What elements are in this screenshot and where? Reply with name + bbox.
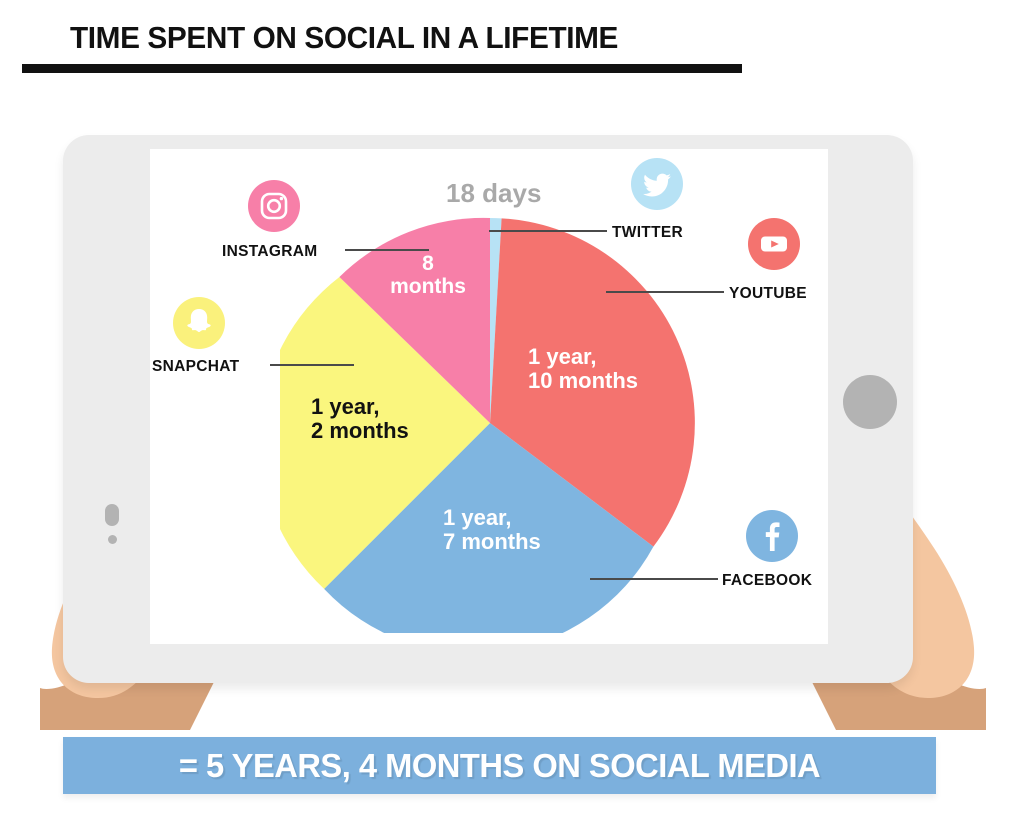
leader-line-twitter xyxy=(489,230,607,232)
brand-label-facebook: FACEBOOK xyxy=(722,572,812,590)
instagram-value-label: 8 months xyxy=(376,253,480,298)
snapchat-icon[interactable] xyxy=(173,297,225,349)
page-title: TIME SPENT ON SOCIAL IN A LIFETIME xyxy=(70,20,618,56)
footer-banner: = 5 YEARS, 4 MONTHS ON SOCIAL MEDIA xyxy=(63,737,936,794)
leader-line-youtube xyxy=(606,291,724,293)
leader-line-instagram xyxy=(345,249,429,251)
sensor-dot-icon xyxy=(108,535,117,544)
brand-label-youtube: YOUTUBE xyxy=(729,285,807,303)
home-button-icon[interactable] xyxy=(843,375,897,429)
instagram-icon[interactable] xyxy=(248,180,300,232)
youtube-icon[interactable] xyxy=(748,218,800,270)
brand-label-instagram: INSTAGRAM xyxy=(222,243,317,261)
brand-label-snapchat: SNAPCHAT xyxy=(152,358,239,376)
twitter-icon[interactable] xyxy=(631,158,683,210)
camera-pill-icon xyxy=(105,504,119,526)
infographic-canvas: TIME SPENT ON SOCIAL IN A LIFETIME xyxy=(0,0,1024,829)
facebook-icon[interactable] xyxy=(746,510,798,562)
twitter-value-label: 18 days xyxy=(446,178,541,209)
facebook-value-label: 1 year, 7 months xyxy=(443,506,541,554)
leader-line-facebook xyxy=(590,578,718,580)
footer-total-text: = 5 YEARS, 4 MONTHS ON SOCIAL MEDIA xyxy=(67,737,931,794)
brand-label-twitter: TWITTER xyxy=(612,224,683,242)
title-underline xyxy=(22,64,742,73)
snapchat-value-label: 1 year, 2 months xyxy=(311,395,409,443)
youtube-value-label: 1 year, 10 months xyxy=(528,345,638,393)
leader-line-snapchat xyxy=(270,364,354,366)
